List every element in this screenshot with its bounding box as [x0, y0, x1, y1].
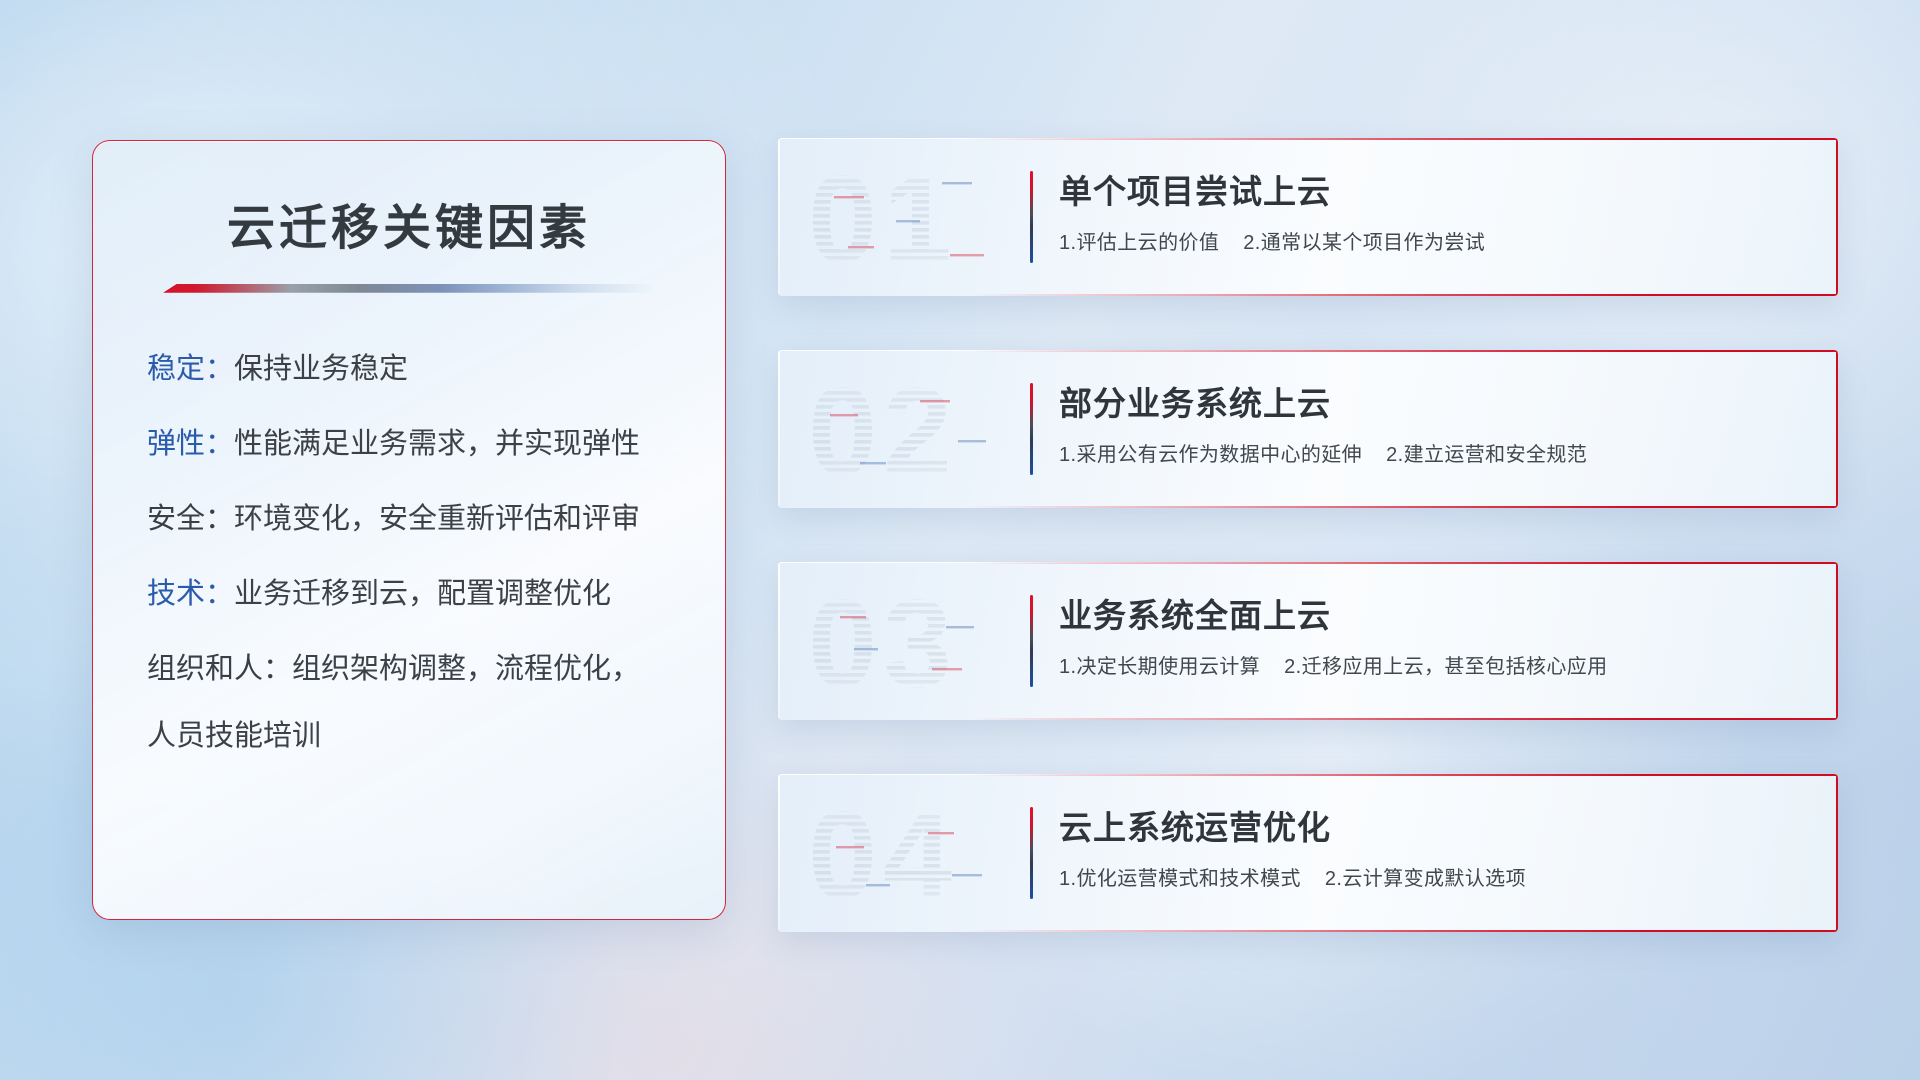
factor-value: 人员技能培训 — [147, 720, 321, 752]
step-subtitle: 1.决定长期使用云计算2.迁移应用上云，甚至包括核心应用 — [1059, 650, 1608, 679]
step-text-block: 单个项目尝试上云 1.评估上云的价值2.通常以某个项目作为尝试 — [1059, 171, 1485, 263]
page-title: 云迁移关键因素 — [139, 203, 679, 256]
svg-text:03: 03 — [808, 582, 958, 700]
step-accent-bar — [1030, 171, 1033, 263]
migration-stage-list: 01 单个项目尝试上云 1.评估上云的价值2.通常以某 — [778, 138, 1838, 932]
factor-item-organization-continued: 人员技能培训 — [147, 722, 679, 751]
key-factors-panel: 云迁移关键因素 稳定：保持业务稳定 弹性：性能满足业务需求，并实现弹性 安全：环… — [92, 140, 726, 920]
step-accent-bar — [1030, 383, 1033, 475]
step-content-02: 部分业务系统上云 1.采用公有云作为数据中心的延伸2.建立运营和安全规范 — [1030, 383, 1587, 475]
factor-list: 稳定：保持业务稳定 弹性：性能满足业务需求，并实现弹性 安全：环境变化，安全重新… — [139, 355, 679, 751]
factor-key: 技术： — [147, 578, 234, 610]
step-title: 云上系统运营优化 — [1059, 809, 1526, 848]
step-title: 部分业务系统上云 — [1059, 385, 1587, 424]
step-subtitle: 1.采用公有云作为数据中心的延伸2.建立运营和安全规范 — [1059, 438, 1587, 467]
factor-value: 业务迁移到云，配置调整优化 — [234, 578, 611, 610]
step-card-01[interactable]: 01 单个项目尝试上云 1.评估上云的价值2.通常以某 — [778, 138, 1838, 296]
factor-item-stability: 稳定：保持业务稳定 — [147, 355, 679, 384]
factor-value: 环境变化，安全重新评估和评审 — [234, 503, 640, 535]
slide-stage: 云迁移关键因素 稳定：保持业务稳定 弹性：性能满足业务需求，并实现弹性 安全：环… — [0, 0, 1920, 1080]
step-number-03-icon: 03 — [800, 582, 1030, 700]
step-subtitle: 1.优化运营模式和技术模式2.云计算变成默认选项 — [1059, 862, 1526, 891]
factor-key: 稳定： — [147, 353, 234, 385]
factor-item-technology: 技术：业务迁移到云，配置调整优化 — [147, 580, 679, 609]
step-number-02-icon: 02 — [800, 370, 1030, 488]
factor-item-organization: 组织和人：组织架构调整，流程优化， — [147, 655, 679, 684]
step-title: 单个项目尝试上云 — [1059, 173, 1485, 212]
step-content-04: 云上系统运营优化 1.优化运营模式和技术模式2.云计算变成默认选项 — [1030, 807, 1526, 899]
step-text-block: 业务系统全面上云 1.决定长期使用云计算2.迁移应用上云，甚至包括核心应用 — [1059, 595, 1608, 687]
factor-key: 弹性： — [147, 428, 234, 460]
step-point-2: 2.迁移应用上云，甚至包括核心应用 — [1284, 656, 1607, 678]
factor-key: 组织和人： — [147, 653, 292, 685]
step-point-1: 1.优化运营模式和技术模式 — [1059, 868, 1301, 890]
title-underline-rule — [163, 284, 655, 293]
step-point-1: 1.采用公有云作为数据中心的延伸 — [1059, 444, 1362, 466]
step-point-1: 1.评估上云的价值 — [1059, 232, 1219, 254]
step-card-02[interactable]: 02 部分业务系统上云 1.采用公有云作为数据中心的延伸2.建立运营和安全规范 — [778, 350, 1838, 508]
step-card-03[interactable]: 03 业务系统全面上云 1.决定长期使用云计算2.迁移应用上云，甚至包括核心应用 — [778, 562, 1838, 720]
factor-value: 性能满足业务需求，并实现弹性 — [234, 428, 640, 460]
step-number-01-icon: 01 — [800, 158, 1030, 276]
svg-text:02: 02 — [808, 370, 958, 488]
step-accent-bar — [1030, 807, 1033, 899]
step-content-03: 业务系统全面上云 1.决定长期使用云计算2.迁移应用上云，甚至包括核心应用 — [1030, 595, 1608, 687]
svg-text:04: 04 — [808, 794, 958, 912]
svg-text:01: 01 — [808, 158, 958, 276]
factor-item-elasticity: 弹性：性能满足业务需求，并实现弹性 — [147, 430, 679, 459]
step-point-2: 2.通常以某个项目作为尝试 — [1243, 232, 1485, 254]
step-card-04[interactable]: 04 云上系统运营优化 1.优化运营模式和技术模式2.云计算变成默认选项 — [778, 774, 1838, 932]
step-number-04-icon: 04 — [800, 794, 1030, 912]
key-factors-panel-inner: 云迁移关键因素 稳定：保持业务稳定 弹性：性能满足业务需求，并实现弹性 安全：环… — [93, 141, 725, 751]
step-point-2: 2.云计算变成默认选项 — [1325, 868, 1526, 890]
step-point-2: 2.建立运营和安全规范 — [1386, 444, 1587, 466]
step-text-block: 部分业务系统上云 1.采用公有云作为数据中心的延伸2.建立运营和安全规范 — [1059, 383, 1587, 475]
step-point-1: 1.决定长期使用云计算 — [1059, 656, 1260, 678]
factor-item-security: 安全：环境变化，安全重新评估和评审 — [147, 505, 679, 534]
factor-key: 安全： — [147, 503, 234, 535]
step-content-01: 单个项目尝试上云 1.评估上云的价值2.通常以某个项目作为尝试 — [1030, 171, 1485, 263]
step-accent-bar — [1030, 595, 1033, 687]
step-title: 业务系统全面上云 — [1059, 597, 1608, 636]
step-text-block: 云上系统运营优化 1.优化运营模式和技术模式2.云计算变成默认选项 — [1059, 807, 1526, 899]
step-subtitle: 1.评估上云的价值2.通常以某个项目作为尝试 — [1059, 226, 1485, 255]
factor-value: 保持业务稳定 — [234, 353, 408, 385]
factor-value: 组织架构调整，流程优化， — [292, 653, 640, 685]
